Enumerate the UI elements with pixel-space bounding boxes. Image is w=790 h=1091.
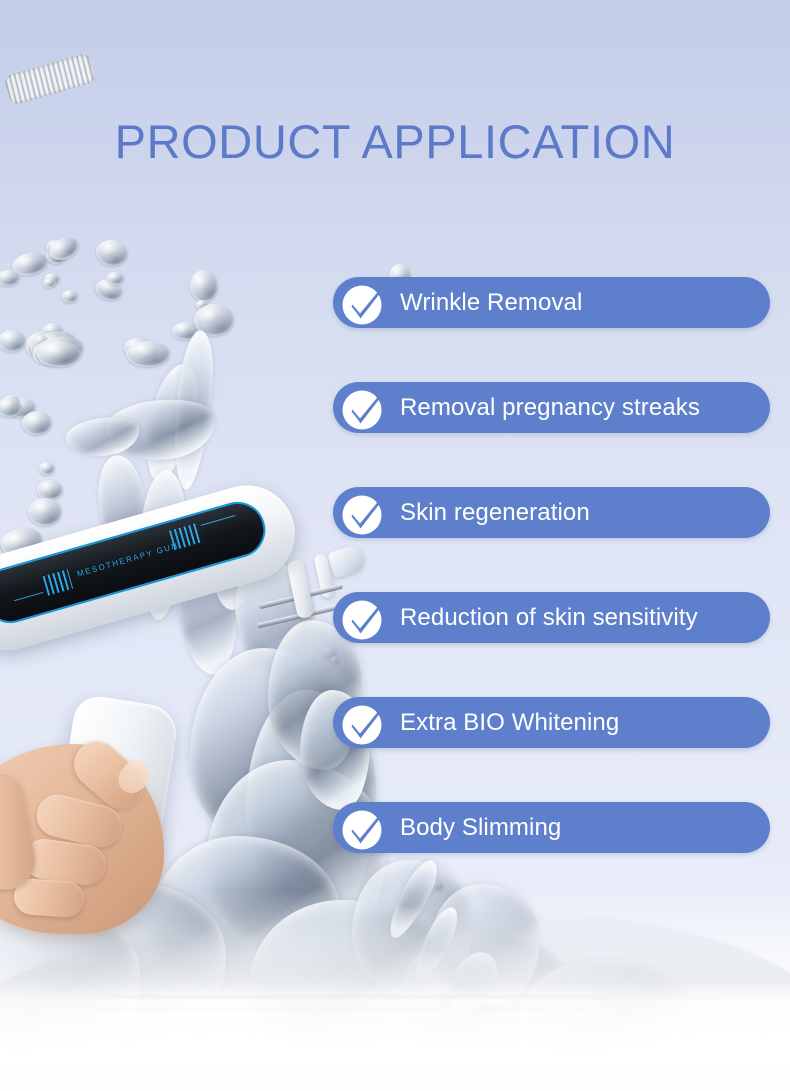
water-droplet: [194, 304, 234, 336]
water-droplet: [0, 398, 22, 417]
water-droplet: [42, 323, 63, 340]
water-droplet: [46, 246, 67, 264]
water-droplet: [32, 336, 50, 352]
water-droplet: [22, 327, 62, 361]
little-finger: [13, 878, 85, 919]
water-splash-column: [150, 836, 340, 1006]
water-splash-column: [250, 900, 450, 1060]
water-droplet: [22, 411, 52, 435]
water-stream: [64, 413, 143, 461]
water-surface-line: [0, 1007, 790, 1011]
water-droplet: [129, 345, 147, 359]
water-splash-column: [520, 960, 690, 1070]
middle-finger: [32, 790, 126, 852]
water-droplet: [33, 336, 61, 358]
feature-item-skin-regeneration[interactable]: Skin regeneration: [333, 487, 770, 538]
water-body: [0, 891, 790, 1091]
water-stream: [136, 360, 206, 487]
gun-barrel-top-fitting: [14, 593, 60, 624]
water-stream: [168, 329, 219, 492]
water-droplet: [93, 276, 126, 304]
water-droplet: [37, 480, 63, 500]
water-droplet: [0, 524, 46, 562]
water-splash-column: [430, 884, 540, 1004]
page-title: PRODUCT APPLICATION: [0, 114, 790, 169]
water-droplet: [30, 338, 54, 356]
gun-logo-bars-right: [169, 523, 203, 550]
feature-item-removal-pregnancy-streaks[interactable]: Removal pregnancy streaks: [333, 382, 770, 433]
water-surface-line: [0, 1017, 790, 1021]
water-droplet: [37, 341, 81, 367]
thumb: [0, 766, 40, 895]
water-droplet: [46, 240, 64, 254]
water-droplet: [31, 336, 39, 343]
water-droplet: [172, 322, 198, 340]
water-droplet: [31, 333, 45, 344]
feature-item-body-slimming[interactable]: Body Slimming: [333, 802, 770, 853]
water-droplet: [126, 341, 170, 367]
gun-needle-rod-upper: [259, 584, 344, 610]
check-circle-icon: [341, 701, 386, 746]
feature-label: Skin regeneration: [400, 499, 590, 527]
gun-accent-line-right: [201, 515, 236, 526]
water-droplet: [30, 333, 86, 370]
water-splash-column: [36, 880, 226, 1050]
product-application-poster: MESOTHERAPY GUN PRODUCT APPLICATION Wrin…: [0, 0, 790, 1091]
water-splash-column: [0, 900, 140, 1070]
water-droplet: [436, 912, 447, 921]
water-droplet: [0, 270, 20, 286]
gun-body: MESOTHERAPY GUN: [0, 474, 306, 660]
water-wave-crest: [0, 909, 790, 1029]
check-circle-icon: [341, 596, 386, 641]
water-droplet: [10, 249, 50, 278]
feature-label: Removal pregnancy streaks: [400, 394, 700, 422]
water-droplet: [146, 345, 158, 355]
hand-palm: [0, 744, 164, 934]
check-circle-icon: [341, 386, 386, 431]
water-droplet: [0, 533, 24, 553]
gun-needle-rod-lower: [257, 605, 340, 629]
feature-label: Wrinkle Removal: [400, 289, 582, 317]
water-droplet: [430, 880, 444, 891]
water-splash-column: [190, 648, 350, 858]
water-stream: [94, 453, 152, 575]
water-droplet: [2, 395, 20, 409]
water-droplet: [33, 337, 73, 361]
water-droplet: [34, 335, 48, 347]
water-droplet: [30, 335, 40, 343]
water-splash-column: [400, 930, 570, 1060]
water-stream: [103, 394, 219, 465]
feature-label: Reduction of skin sensitivity: [400, 604, 698, 632]
gun-brand-text: MESOTHERAPY GUN: [76, 541, 180, 579]
gun-black-panel: MESOTHERAPY GUN: [0, 495, 272, 629]
water-droplet: [124, 338, 150, 358]
water-droplet: [28, 327, 79, 363]
water-droplet: [126, 338, 160, 363]
water-droplet: [46, 233, 82, 264]
water-droplet: [62, 290, 78, 303]
water-droplet: [39, 462, 55, 475]
water-tendril: [408, 903, 465, 985]
water-droplet: [34, 335, 64, 359]
feature-item-wrinkle-removal[interactable]: Wrinkle Removal: [333, 277, 770, 328]
water-droplet: [43, 278, 56, 288]
water-droplet: [190, 326, 203, 337]
water-droplet: [188, 268, 220, 304]
gun-logo-bars-left: [43, 569, 74, 595]
gun-plunger-plate-inner: [286, 559, 315, 619]
ring-finger: [22, 836, 109, 887]
water-tendril: [381, 855, 444, 943]
water-stream: [205, 497, 270, 613]
water-droplet: [0, 330, 26, 352]
feature-list: Wrinkle Removal Removal pregnancy streak…: [333, 277, 770, 853]
finger-nail: [112, 755, 155, 799]
water-tendril: [438, 944, 507, 1021]
water-surface-line: [0, 995, 790, 999]
feature-label: Body Slimming: [400, 814, 561, 842]
check-circle-icon: [341, 806, 386, 851]
water-droplet: [106, 272, 124, 285]
water-droplet: [8, 398, 36, 418]
gun-grip-handle: [48, 693, 180, 897]
gun-accent-line-left: [14, 592, 43, 601]
feature-item-extra-bio-whitening[interactable]: Extra BIO Whitening: [333, 697, 770, 748]
water-splash-column: [352, 860, 472, 1000]
index-finger: [65, 732, 154, 818]
water-stream: [174, 543, 243, 677]
water-droplet: [196, 300, 208, 310]
water-stream: [135, 469, 189, 622]
check-circle-icon: [341, 491, 386, 536]
feature-item-reduction-of-skin-sensitivity[interactable]: Reduction of skin sensitivity: [333, 592, 770, 643]
gun-vent-grille: [4, 52, 97, 105]
feature-label: Extra BIO Whitening: [400, 709, 619, 737]
water-droplet: [44, 273, 60, 285]
water-droplet: [94, 237, 130, 268]
water-droplet: [200, 310, 220, 325]
check-circle-icon: [341, 281, 386, 326]
water-stream: [227, 554, 324, 695]
water-droplet: [28, 498, 62, 526]
